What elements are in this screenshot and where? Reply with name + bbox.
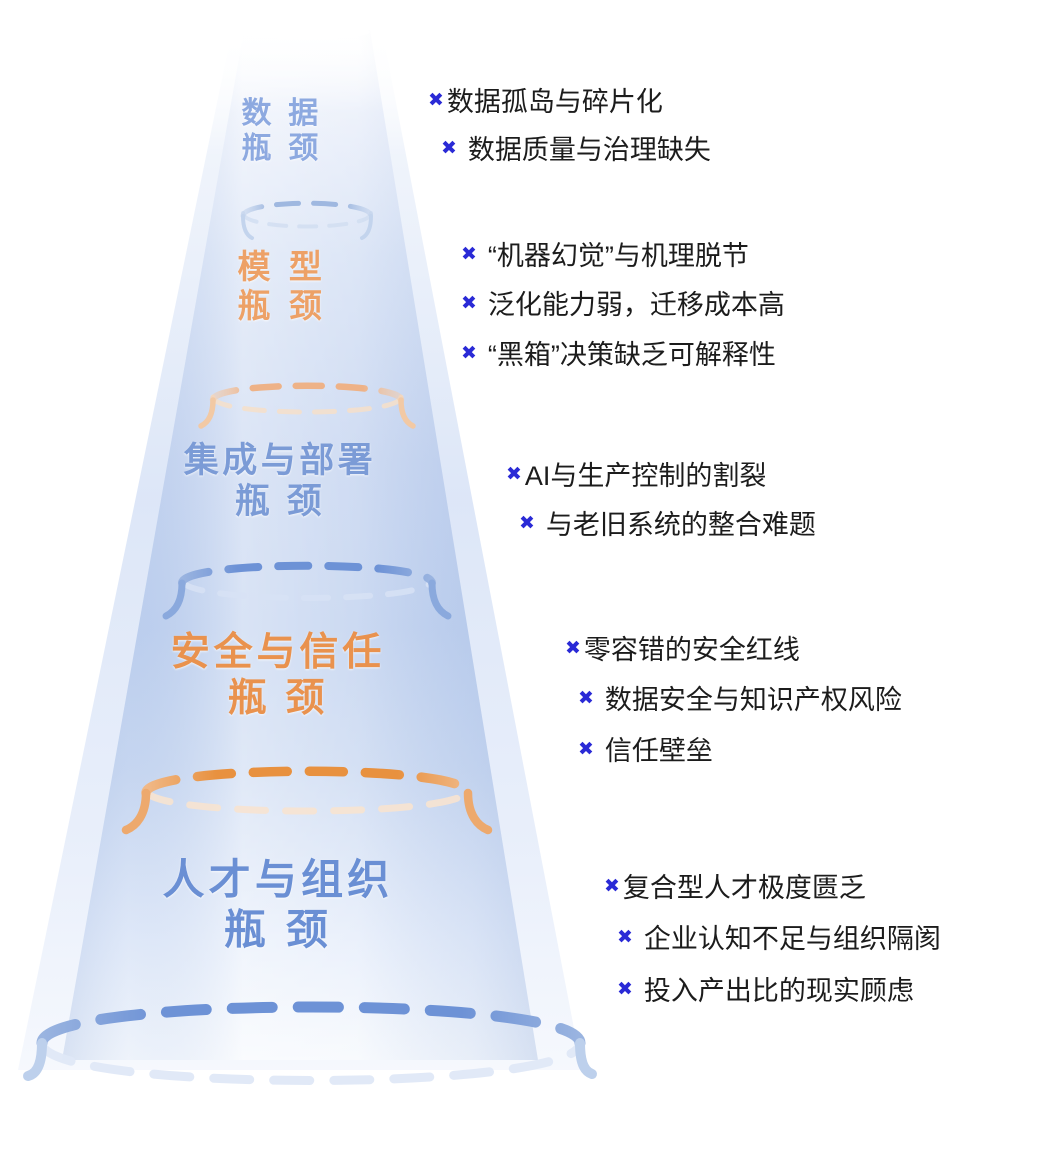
cross-icon: ✖: [578, 733, 594, 759]
tier-label-line2: 瓶 颈: [162, 287, 402, 326]
bullet-item: ✖ AI与生产控制的割裂: [506, 458, 816, 494]
bullet-text: AI与生产控制的割裂: [522, 458, 767, 494]
bullet-item: ✖ 信任壁垒: [565, 733, 902, 769]
tier-label-data-bottleneck: 数 据 瓶 颈: [182, 96, 382, 167]
bullet-group-tier-3: ✖ AI与生产控制的割裂 ✖ 与老旧系统的整合难题: [506, 458, 816, 557]
bullet-text: 与老旧系统的整合难题: [535, 507, 816, 543]
bullet-group-tier-5: ✖ 复合型人才极度匮乏 ✖ 企业认知不足与组织隔阂 ✖ 投入产出比的现实顾虑: [604, 870, 941, 1024]
tier-label-talent-organization-bottleneck: 人才与组织 瓶 颈: [108, 855, 448, 954]
tier-label-line1: 集成与部署: [184, 441, 377, 480]
tier-label-model-bottleneck: 模 型 瓶 颈: [162, 248, 402, 326]
bullet-item: ✖ 泛化能力弱，迁移成本高: [448, 287, 785, 323]
cross-icon: ✖: [604, 870, 620, 896]
diagram-canvas: 数 据 瓶 颈 模 型 瓶 颈 集成与部署 瓶 颈 安全与信任 瓶 颈 人才与组…: [0, 0, 1048, 1153]
bullet-group-tier-1: ✖ 数据孤岛与碎片化 ✖ 数据质量与治理缺失: [428, 84, 711, 181]
bullet-text: 数据安全与知识产权风险: [594, 682, 902, 718]
cross-icon: ✖: [461, 287, 477, 313]
bullet-item: ✖ 企业认知不足与组织隔阂: [604, 921, 941, 957]
bullet-text: “黑箱”决策缺乏可解释性: [477, 337, 776, 373]
tier-label-security-trust-bottleneck: 安全与信任 瓶 颈: [118, 630, 438, 722]
tier-label-line2: 瓶 颈: [108, 905, 448, 955]
bullet-text: 投入产出比的现实顾虑: [633, 973, 914, 1009]
tier-label-line1: 模 型: [237, 248, 326, 285]
bullet-item: ✖ 投入产出比的现实顾虑: [604, 973, 941, 1009]
cone-top-rim: [244, 25, 370, 39]
bullet-text: 数据孤岛与碎片化: [444, 84, 663, 120]
bullet-item: ✖ 复合型人才极度匮乏: [604, 870, 941, 906]
tier-label-line2: 瓶 颈: [182, 131, 382, 166]
divider-tier-3: [166, 566, 1020, 616]
bullet-item: ✖ 数据安全与知识产权风险: [565, 682, 902, 718]
tier-label-line1: 数 据: [242, 97, 323, 130]
divider-tier-1: [243, 203, 1000, 238]
cross-icon: ✖: [461, 337, 477, 363]
bullet-item: ✖ 数据质量与治理缺失: [428, 132, 711, 168]
tier-label-integration-deployment-bottleneck: 集成与部署 瓶 颈: [130, 440, 430, 523]
cross-icon: ✖: [461, 238, 477, 264]
tier-label-line2: 瓶 颈: [130, 481, 430, 522]
bullet-group-tier-4: ✖ 零容错的安全红线 ✖ 数据安全与知识产权风险 ✖ 信任壁垒: [565, 632, 902, 783]
bullet-text: 泛化能力弱，迁移成本高: [477, 287, 785, 323]
bullet-item: ✖ 零容错的安全红线: [565, 632, 902, 668]
cross-icon: ✖: [565, 632, 581, 658]
cross-icon: ✖: [441, 132, 457, 158]
cross-icon: ✖: [428, 84, 444, 110]
cross-icon: ✖: [578, 682, 594, 708]
bullet-text: 企业认知不足与组织隔阂: [633, 921, 941, 957]
divider-tier-2: [201, 386, 1010, 426]
bullet-item: ✖ 数据孤岛与碎片化: [428, 84, 711, 120]
bullet-text: 零容错的安全红线: [581, 632, 800, 668]
bullet-text: 信任壁垒: [594, 733, 713, 769]
bullet-text: “机器幻觉”与机理脱节: [477, 238, 749, 274]
tier-label-line2: 瓶 颈: [118, 676, 438, 722]
cross-icon: ✖: [519, 507, 535, 533]
bullet-item: ✖ 与老旧系统的整合难题: [506, 507, 816, 543]
cross-icon: ✖: [617, 973, 633, 999]
bullet-text: 数据质量与治理缺失: [457, 132, 711, 168]
cross-icon: ✖: [617, 921, 633, 947]
bullet-text: 复合型人才极度匮乏: [620, 870, 866, 906]
tier-label-line1: 安全与信任: [171, 631, 386, 674]
bullet-item: ✖ “黑箱”决策缺乏可解释性: [448, 337, 785, 373]
bullet-item: ✖ “机器幻觉”与机理脱节: [448, 238, 785, 274]
bullet-group-tier-2: ✖ “机器幻觉”与机理脱节 ✖ 泛化能力弱，迁移成本高 ✖ “黑箱”决策缺乏可解…: [448, 238, 785, 386]
cross-icon: ✖: [506, 458, 522, 484]
tier-label-line1: 人才与组织: [162, 856, 393, 903]
